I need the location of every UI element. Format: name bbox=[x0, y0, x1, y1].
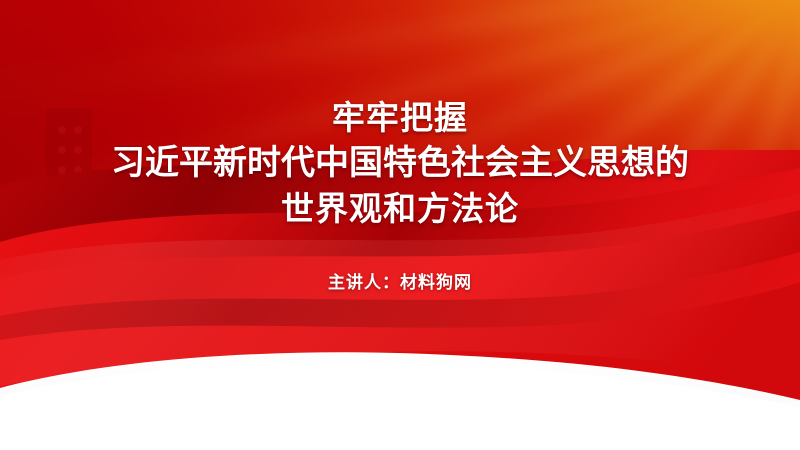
page-title: 牢牢把握 习近平新时代中国特色社会主义思想的 世界观和方法论 bbox=[111, 96, 689, 232]
title-slide: 牢牢把握 习近平新时代中国特色社会主义思想的 世界观和方法论 主讲人：材料狗网 bbox=[0, 0, 800, 450]
slide-content: 牢牢把握 习近平新时代中国特色社会主义思想的 世界观和方法论 主讲人：材料狗网 bbox=[0, 0, 800, 450]
title-line-3: 世界观和方法论 bbox=[111, 186, 689, 232]
title-line-1: 牢牢把握 bbox=[111, 96, 689, 140]
presenter-label: 主讲人：材料狗网 bbox=[328, 268, 472, 293]
title-line-2: 习近平新时代中国特色社会主义思想的 bbox=[111, 140, 689, 186]
